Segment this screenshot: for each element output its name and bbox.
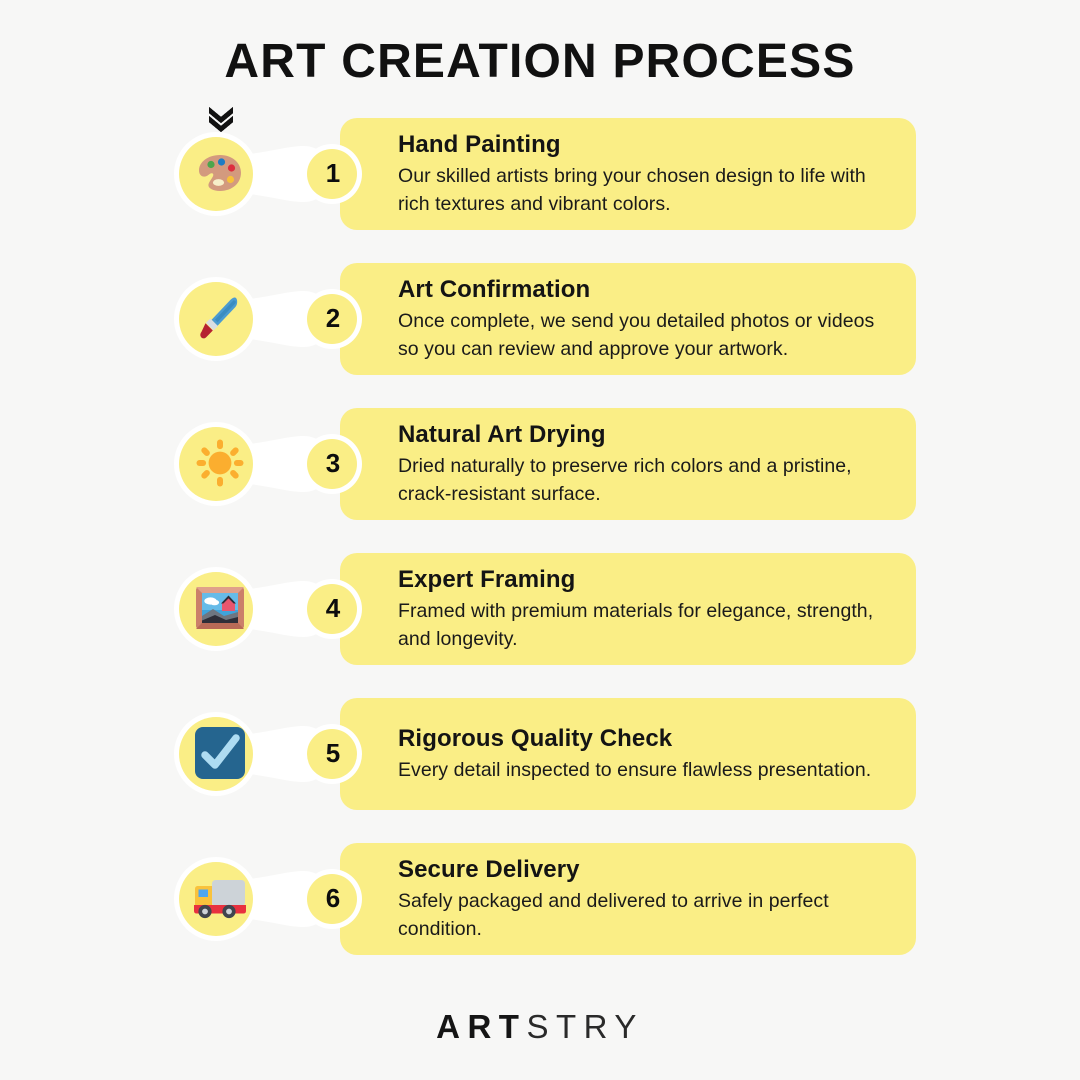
step-number-badge: 4	[311, 586, 355, 630]
step-number-badge: 2	[311, 296, 355, 340]
process-steps-list: Hand Painting Our skilled artists bring …	[0, 118, 1080, 955]
process-step[interactable]: Rigorous Quality Check Every detail insp…	[0, 698, 1080, 810]
step-description: Safely packaged and delivered to arrive …	[398, 888, 892, 943]
framed-picture-icon	[181, 569, 259, 647]
step-card[interactable]: Expert Framing Framed with premium mater…	[340, 553, 916, 665]
brand-logo: ARTSTRY	[0, 1008, 1080, 1046]
process-step[interactable]: Hand Painting Our skilled artists bring …	[0, 118, 1080, 230]
double-chevron-down-icon	[204, 103, 238, 133]
step-number-badge: 3	[311, 441, 355, 485]
process-step[interactable]: Secure Delivery Safely packaged and deli…	[0, 843, 1080, 955]
step-description: Our skilled artists bring your chosen de…	[398, 163, 892, 218]
step-number-badge: 5	[311, 731, 355, 775]
step-card[interactable]: Secure Delivery Safely packaged and deli…	[340, 843, 916, 955]
step-card[interactable]: Rigorous Quality Check Every detail insp…	[340, 698, 916, 810]
step-number-badge: 6	[311, 876, 355, 920]
step-description: Once complete, we send you detailed phot…	[398, 308, 892, 363]
process-step[interactable]: Natural Art Drying Dried naturally to pr…	[0, 408, 1080, 520]
checkmark-badge-icon	[181, 714, 259, 792]
page-title: ART CREATION PROCESS	[0, 36, 1080, 89]
brand-logo-bold: ART	[436, 1008, 526, 1045]
step-description: Dried naturally to preserve rich colors …	[398, 453, 892, 508]
process-step[interactable]: Art Confirmation Once complete, we send …	[0, 263, 1080, 375]
infographic-page: ART CREATION PROCESS Hand Painting Our s…	[0, 0, 1080, 1080]
process-step[interactable]: Expert Framing Framed with premium mater…	[0, 553, 1080, 665]
step-description: Framed with premium materials for elegan…	[398, 598, 892, 653]
delivery-truck-icon	[181, 859, 259, 937]
paintbrush-icon	[181, 279, 259, 357]
sun-icon	[181, 424, 259, 502]
step-card[interactable]: Hand Painting Our skilled artists bring …	[340, 118, 916, 230]
step-title: Expert Framing	[398, 565, 892, 595]
step-title: Art Confirmation	[398, 275, 892, 305]
step-title: Secure Delivery	[398, 855, 892, 885]
step-title: Hand Painting	[398, 130, 892, 160]
step-description: Every detail inspected to ensure flawles…	[398, 757, 892, 785]
step-number-badge: 1	[311, 151, 355, 195]
step-title: Natural Art Drying	[398, 420, 892, 450]
step-card[interactable]: Art Confirmation Once complete, we send …	[340, 263, 916, 375]
paint-palette-icon	[181, 134, 259, 212]
brand-logo-light: STRY	[526, 1008, 643, 1045]
step-card[interactable]: Natural Art Drying Dried naturally to pr…	[340, 408, 916, 520]
step-title: Rigorous Quality Check	[398, 724, 892, 754]
